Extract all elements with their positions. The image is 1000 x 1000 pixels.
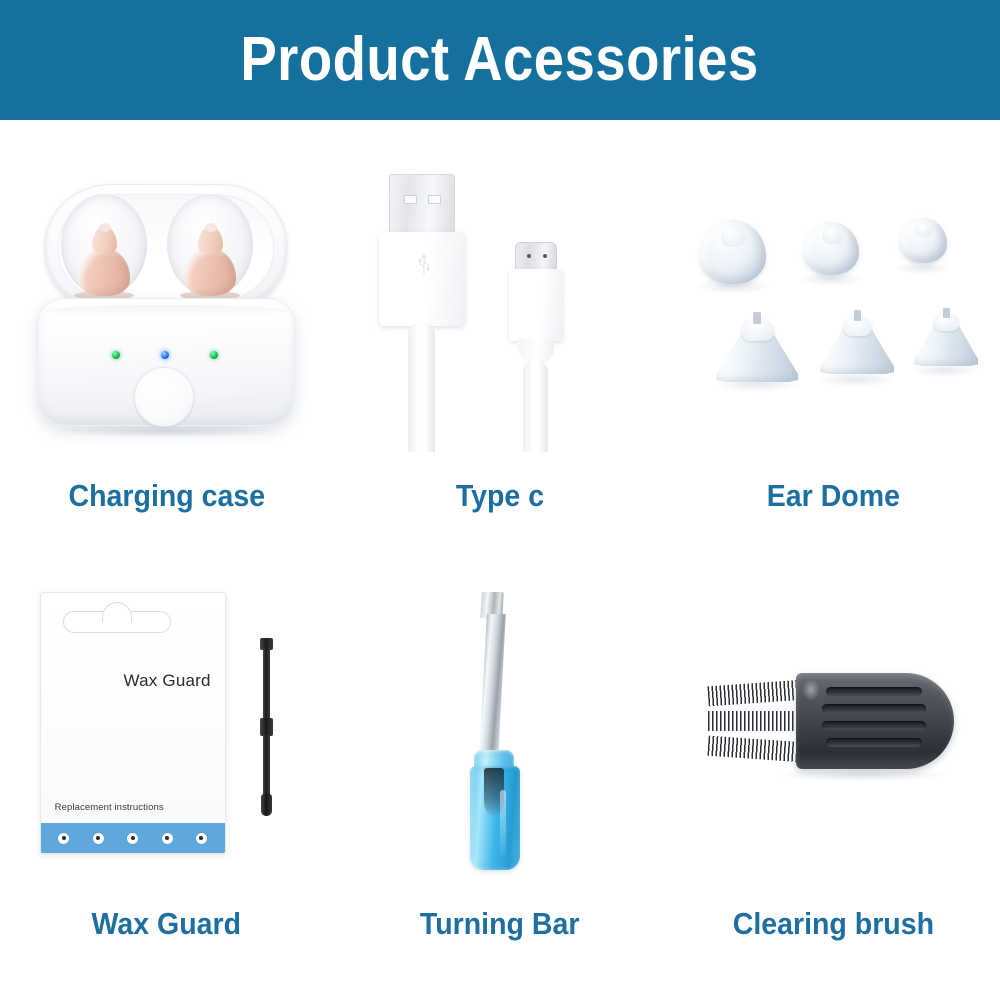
accessory-item-type-c: Type c <box>333 120 666 560</box>
accessory-label-type-c: Type c <box>456 480 544 511</box>
brush-handle-body <box>796 673 954 769</box>
accessory-label-ear-dome: Ear Dome <box>767 480 900 511</box>
wax-guard-filter <box>196 833 207 844</box>
brush-bristles <box>708 681 804 765</box>
accessory-item-turning-bar: Turning Bar <box>333 560 666 1000</box>
led-indicator-green-left <box>112 351 120 359</box>
accessory-item-charging-case: Charging case <box>0 120 333 560</box>
wax-guard-filter-strip <box>41 823 225 853</box>
brush-grip-groove <box>822 721 926 730</box>
accessory-label-clearing-brush: Clearing brush <box>733 908 934 939</box>
accessories-grid: Charging case <box>0 120 1000 1000</box>
wax-guard-card-title: Wax Guard <box>124 671 211 691</box>
accessory-item-clearing-brush: Clearing brush <box>667 560 1000 1000</box>
usb-c-connector-housing <box>509 269 563 341</box>
ear-dome-icon <box>688 200 978 420</box>
usb-a-connector-metal <box>389 174 455 236</box>
brush-drop-shadow <box>778 769 948 781</box>
usb-c-connector-metal <box>515 242 557 270</box>
usb-type-c-cable-icon <box>375 170 625 450</box>
usb-a-cable-lead <box>408 322 435 452</box>
accessory-item-wax-guard: Wax Guard Replacement instructions <box>0 560 333 1000</box>
usb-logo-icon <box>417 254 431 276</box>
led-indicator-blue-center <box>161 351 169 359</box>
cleaning-brush-icon <box>708 665 958 795</box>
screwdriver-shaft <box>479 614 506 758</box>
usb-c-cable-lead <box>523 360 548 452</box>
accessory-label-turning-bar: Turning Bar <box>420 908 580 939</box>
wax-guard-filter <box>93 833 104 844</box>
ear-dome-open-medium <box>820 306 894 374</box>
type-c-artwork <box>333 120 666 470</box>
accessory-item-ear-dome: Ear Dome <box>667 120 1000 560</box>
wax-guard-filter <box>162 833 173 844</box>
wax-guard-filter <box>127 833 138 844</box>
ear-dome-closed-medium <box>804 222 859 275</box>
brush-grip-groove <box>826 738 922 747</box>
hearing-aid-left <box>78 226 130 296</box>
wax-guard-artwork: Wax Guard Replacement instructions <box>0 560 333 880</box>
screwdriver-handle-highlight <box>500 790 506 856</box>
screwdriver-icon <box>440 590 560 870</box>
case-body <box>37 298 295 426</box>
charging-case-artwork <box>0 120 333 470</box>
ear-dome-open-small <box>914 304 978 366</box>
accessory-label-charging-case: Charging case <box>68 480 265 511</box>
charging-case-icon <box>37 180 297 440</box>
led-indicator-green-right <box>210 351 218 359</box>
usb-a-connector-housing <box>379 232 465 326</box>
wax-guard-card-icon: Wax Guard Replacement instructions <box>32 590 302 870</box>
clearing-brush-artwork <box>667 560 1000 880</box>
card-hang-hole <box>63 611 171 633</box>
ear-dome-artwork <box>667 120 1000 470</box>
brush-grip-groove <box>822 704 926 713</box>
page-title: Product Acessories <box>241 29 759 91</box>
ear-dome-closed-small <box>900 218 947 263</box>
case-power-button[interactable] <box>134 367 194 427</box>
wax-guard-card: Wax Guard Replacement instructions <box>40 592 226 854</box>
accessory-label-wax-guard: Wax Guard <box>92 908 242 939</box>
ear-dome-open-large <box>716 308 798 382</box>
brush-grip-groove <box>826 687 922 696</box>
wax-guard-card-subtitle: Replacement instructions <box>55 802 164 813</box>
hearing-aid-right <box>184 226 236 296</box>
page-header-banner: Product Acessories <box>0 0 1000 120</box>
wax-guard-filter <box>58 833 69 844</box>
ear-dome-closed-large <box>700 220 766 284</box>
wax-guard-removal-tool <box>260 638 273 816</box>
turning-bar-artwork <box>333 560 666 880</box>
